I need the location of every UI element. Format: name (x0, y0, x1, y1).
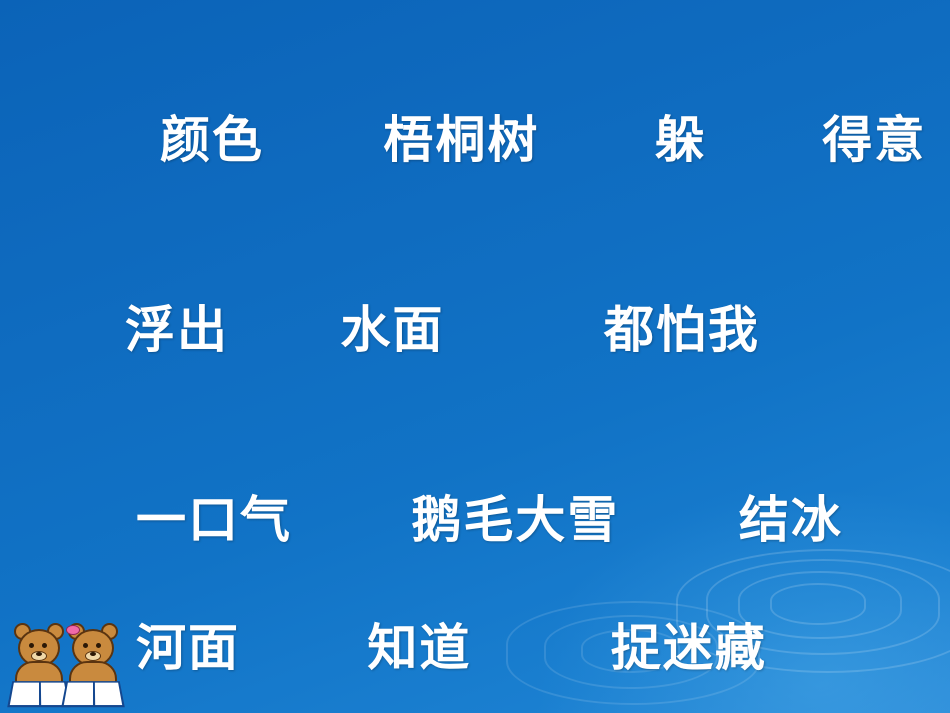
bear-nose (36, 652, 42, 656)
bears-clipart-icon (6, 618, 136, 713)
bear-eye (29, 643, 34, 648)
word-item: 结冰 (739, 480, 843, 552)
book-icon (61, 681, 125, 707)
bear-eye (96, 643, 101, 648)
word-item: 浮出 (125, 290, 229, 362)
word-row: 颜色 梧桐树 躲 得意 (0, 100, 950, 172)
word-row: 浮出 水面 都怕我 (0, 290, 950, 362)
word-item: 一口气 (136, 480, 292, 552)
word-item: 得意 (822, 100, 926, 172)
word-row: 河面 知道 捉迷藏 (0, 608, 950, 680)
bear-eye (83, 643, 88, 648)
word-item: 知道 (367, 608, 471, 680)
bear-right-icon (62, 621, 124, 713)
word-grid: 颜色 梧桐树 躲 得意 浮出 水面 都怕我 一口气 鹅毛大雪 结冰 河面 知道 … (0, 0, 950, 713)
word-item: 躲 (655, 100, 707, 172)
word-item: 水面 (340, 290, 444, 362)
word-item: 梧桐树 (383, 100, 539, 172)
slide-canvas: 颜色 梧桐树 躲 得意 浮出 水面 都怕我 一口气 鹅毛大雪 结冰 河面 知道 … (0, 0, 950, 713)
word-item: 河面 (136, 608, 240, 680)
word-item: 都怕我 (604, 290, 760, 362)
word-item: 捉迷藏 (611, 608, 767, 680)
bear-left-icon (8, 621, 70, 713)
bow-icon (66, 625, 80, 635)
bear-nose (90, 652, 96, 656)
word-item: 鹅毛大雪 (411, 480, 619, 552)
word-row: 一口气 鹅毛大雪 结冰 (0, 480, 950, 552)
bear-eye (42, 643, 47, 648)
word-item: 颜色 (160, 100, 264, 172)
